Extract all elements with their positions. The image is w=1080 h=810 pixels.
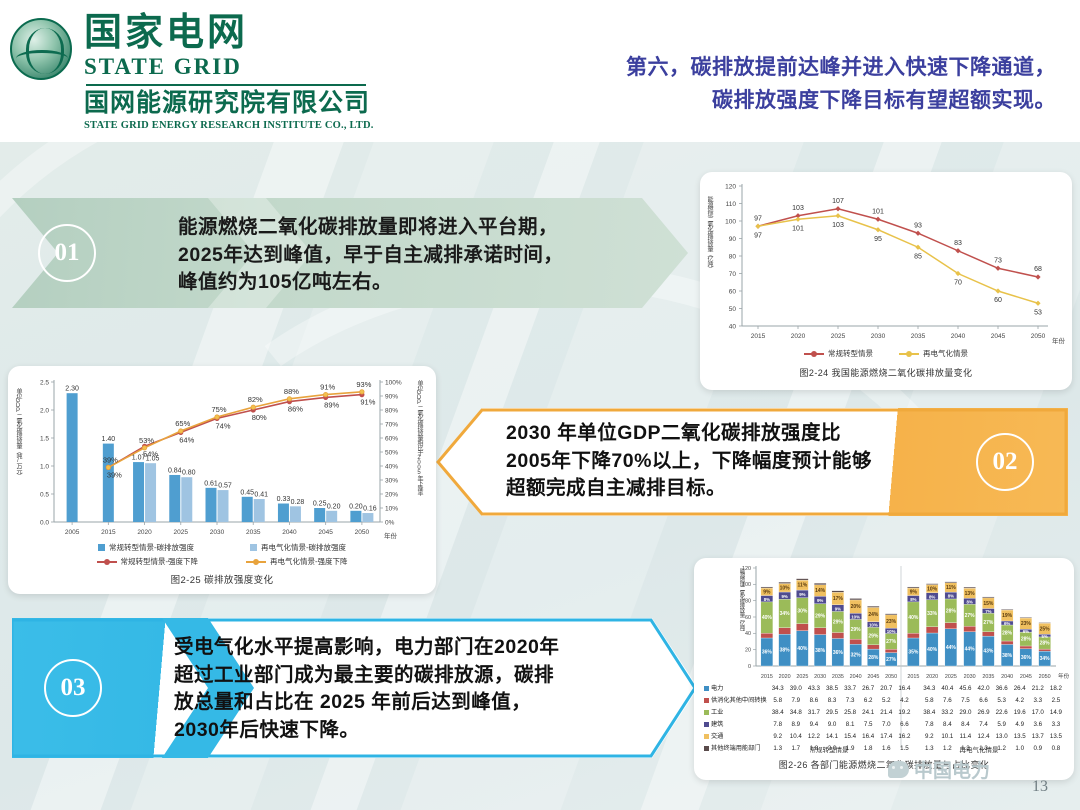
table-row: 工业38.434.831.729.525.824.121.419.238.433… [702, 708, 1064, 718]
table-cell: 45.6 [957, 684, 973, 694]
callout-02-text: 2030 年单位GDP二氧化碳排放强度比 2005年下降70%以上，下降幅度预计… [506, 420, 911, 503]
fig2-25-legend-row-2: 常规转型情景-强度下降 再电气化情景-强度下降 [8, 556, 436, 567]
svg-text:28%: 28% [868, 655, 879, 661]
svg-text:1.0: 1.0 [40, 463, 49, 470]
table-cell: 33.7 [842, 684, 858, 694]
svg-text:0.0: 0.0 [40, 519, 49, 526]
svg-text:8%: 8% [929, 594, 935, 599]
svg-text:2050: 2050 [1039, 674, 1051, 680]
svg-text:90%: 90% [385, 393, 398, 400]
table-cell: 13.5 [1012, 732, 1028, 742]
brand-text-block: 国家电网 STATE GRID 国网能源研究院有限公司 STATE GRID E… [84, 14, 374, 131]
svg-text:27%: 27% [965, 613, 976, 619]
svg-text:40%: 40% [908, 615, 919, 621]
fig2-26-caption: 图2-26 各部门能源燃烧二氧化碳排放量与占比变化 [694, 758, 1074, 771]
svg-text:34%: 34% [1040, 656, 1051, 662]
svg-text:8%: 8% [764, 597, 770, 602]
svg-text:2020: 2020 [137, 529, 152, 536]
svg-text:36%: 36% [1021, 655, 1032, 661]
svg-text:0.61: 0.61 [204, 480, 218, 487]
svg-text:0%: 0% [385, 519, 395, 526]
svg-text:28%: 28% [946, 608, 957, 614]
svg-text:24%: 24% [868, 612, 879, 618]
institute-name-en: STATE GRID ENERGY RESEARCH INSTITUTE CO.… [84, 120, 374, 131]
svg-text:44%: 44% [946, 645, 957, 651]
fig2-25-ylabel-right: 单位GDP二氧化碳排放量相比于2005年下降率 [416, 380, 422, 530]
brand-name-cn: 国家电网 [84, 14, 374, 54]
fig2-25-caption: 图2-25 碳排放强度变化 [8, 572, 436, 586]
svg-text:32%: 32% [851, 653, 862, 659]
legend-item: 常规转型情景-碳排放强度 [98, 542, 194, 553]
svg-text:40%: 40% [797, 646, 808, 652]
svg-text:2050: 2050 [355, 529, 370, 536]
svg-text:14%: 14% [815, 588, 826, 594]
svg-text:2050: 2050 [1031, 333, 1046, 340]
svg-text:38%: 38% [1002, 653, 1013, 659]
svg-text:27%: 27% [886, 657, 897, 663]
table-cell: 13.7 [1030, 732, 1046, 742]
table-cell: 7.5 [860, 720, 876, 730]
svg-text:10%: 10% [385, 505, 398, 512]
table-cell: 12.2 [806, 732, 822, 742]
table-cell: 24.1 [860, 708, 876, 718]
table-cell: 19.2 [896, 708, 912, 718]
legend-label: 常规转型情景-强度下降 [121, 556, 199, 567]
svg-text:50%: 50% [385, 449, 398, 456]
svg-text:0.20: 0.20 [327, 503, 341, 510]
table-cell: 38.5 [824, 684, 840, 694]
svg-text:2.5: 2.5 [40, 379, 49, 386]
svg-text:36%: 36% [833, 650, 844, 656]
svg-text:68: 68 [1034, 266, 1042, 273]
sector-swatch-icon [704, 746, 709, 751]
fig2-26-scenario-right: 再电气化情景 [904, 744, 1054, 754]
svg-text:28%: 28% [1040, 641, 1051, 647]
svg-text:8%: 8% [910, 597, 916, 602]
table-cell: 43.3 [806, 684, 822, 694]
svg-text:60: 60 [745, 615, 751, 621]
svg-text:29%: 29% [868, 634, 879, 640]
svg-text:20%: 20% [851, 604, 862, 610]
svg-text:60%: 60% [385, 435, 398, 442]
svg-text:6%: 6% [1023, 629, 1029, 634]
table-row: 交通9.210.412.214.115.416.417.416.29.210.1… [702, 732, 1064, 742]
callout-01-line-2: 2025年达到峰值，早于自主减排承诺时间， [178, 242, 678, 270]
callout-01-line-1: 能源燃烧二氧化碳排放量即将进入平台期， [178, 214, 678, 242]
svg-text:8%: 8% [948, 594, 954, 599]
table-row: 电力34.339.043.338.533.726.720.716.434.340… [702, 684, 1064, 694]
svg-text:13%: 13% [965, 591, 976, 597]
table-separator [914, 696, 919, 706]
table-cell: 3.3 [1030, 696, 1046, 706]
legend-item: 常规转型情景 [804, 348, 873, 359]
legend-label: 再电气化情景-强度下降 [270, 556, 348, 567]
svg-text:86%: 86% [288, 405, 303, 414]
page-title: 第六，碳排放提前达峰并进入快速下降通道， 碳排放强度下降目标有望超额实现。 [466, 52, 1056, 117]
svg-text:9%: 9% [763, 589, 771, 595]
svg-text:2005: 2005 [65, 529, 80, 536]
svg-text:75%: 75% [211, 405, 226, 414]
table-cell: 9.2 [921, 732, 937, 742]
svg-text:0.16: 0.16 [363, 506, 377, 513]
fig2-24-ylabel: 能源燃烧二氧化碳排放量（亿吨） [706, 196, 712, 324]
svg-text:91%: 91% [320, 383, 335, 392]
svg-text:0.28: 0.28 [291, 499, 305, 506]
svg-text:2040: 2040 [1001, 674, 1013, 680]
table-cell: 26.9 [975, 708, 991, 718]
table-cell: 7.8 [921, 720, 937, 730]
state-grid-emblem-icon [10, 18, 72, 80]
svg-text:17%: 17% [833, 596, 844, 602]
svg-text:1.40: 1.40 [102, 436, 116, 443]
svg-text:93: 93 [914, 222, 922, 229]
svg-text:10%: 10% [780, 585, 791, 591]
svg-text:44%: 44% [965, 646, 976, 652]
svg-text:43%: 43% [983, 649, 994, 655]
svg-text:88%: 88% [284, 387, 299, 396]
legend-item: 再电气化情景-强度下降 [246, 556, 348, 567]
svg-text:39%: 39% [107, 470, 122, 479]
svg-text:23%: 23% [1021, 621, 1032, 627]
table-cell: 39.0 [788, 684, 804, 694]
svg-text:93%: 93% [356, 380, 371, 389]
table-cell: 5.8 [770, 696, 786, 706]
table-cell: 17.0 [1030, 708, 1046, 718]
table-cell: 34.3 [921, 684, 937, 694]
table-separator [914, 708, 919, 718]
table-cell: 34.8 [788, 708, 804, 718]
svg-text:40%: 40% [385, 463, 398, 470]
svg-text:2035: 2035 [246, 529, 261, 536]
table-cell: 5.2 [878, 696, 894, 706]
sector-swatch-icon [704, 734, 709, 739]
table-cell: 16.4 [896, 684, 912, 694]
legend-item: 再电气化情景-碳排放强度 [250, 542, 346, 553]
svg-text:7%: 7% [985, 609, 991, 614]
svg-text:0.33: 0.33 [277, 496, 291, 503]
table-cell: 38.4 [770, 708, 786, 718]
svg-text:23%: 23% [886, 619, 897, 625]
svg-text:34%: 34% [780, 611, 791, 617]
table-cell: 14.1 [824, 732, 840, 742]
svg-text:70: 70 [954, 280, 962, 287]
callout-03[interactable]: 03 受电气化水平提高影响，电力部门在2020年 超过工业部门成为最主要的碳排放… [12, 618, 698, 758]
svg-text:38%: 38% [780, 648, 791, 654]
table-cell: 6.2 [860, 696, 876, 706]
svg-text:91%: 91% [360, 398, 375, 407]
svg-text:20%: 20% [385, 491, 398, 498]
svg-text:10%: 10% [869, 623, 878, 628]
table-cell: 5.9 [994, 720, 1010, 730]
svg-text:85: 85 [914, 253, 922, 260]
table-cell: 8.4 [957, 720, 973, 730]
brand-divider [86, 84, 366, 86]
legend-label: 常规转型情景 [828, 348, 873, 359]
table-row: 供消化其他中间转换5.87.98.68.37.36.25.24.25.87.67… [702, 696, 1064, 706]
table-cell: 7.6 [939, 696, 955, 706]
callout-01-line-3: 峰值约为105亿吨左右。 [178, 269, 678, 297]
svg-text:97: 97 [754, 232, 762, 239]
chart-card-fig2-25: 0.00.51.01.52.02.5 0%10%20%30%40%50%60%7… [8, 366, 436, 594]
svg-text:20: 20 [745, 648, 751, 654]
table-cell: 3.6 [1030, 720, 1046, 730]
svg-text:60: 60 [994, 297, 1002, 304]
sector-label: 建筑 [702, 720, 768, 730]
legend-swatch-line-icon [899, 353, 919, 355]
legend-item: 再电气化情景 [899, 348, 968, 359]
svg-text:2015: 2015 [101, 529, 116, 536]
svg-text:35%: 35% [908, 650, 919, 656]
svg-text:0.41: 0.41 [254, 492, 268, 499]
wechat-icon [888, 761, 909, 778]
svg-text:2025: 2025 [831, 333, 846, 340]
svg-text:2030: 2030 [210, 529, 225, 536]
table-cell: 6.6 [896, 720, 912, 730]
legend-label: 再电气化情景-碳排放强度 [261, 542, 346, 553]
svg-text:120: 120 [725, 183, 736, 190]
legend-item: 常规转型情景-强度下降 [97, 556, 199, 567]
svg-text:0: 0 [748, 664, 751, 670]
svg-text:30%: 30% [797, 608, 808, 614]
table-cell: 9.2 [770, 732, 786, 742]
svg-text:2040: 2040 [282, 529, 297, 536]
legend-swatch-line-icon [804, 353, 824, 355]
callout-02-line-1: 2030 年单位GDP二氧化碳排放强度比 [506, 420, 911, 448]
table-cell: 34.3 [770, 684, 786, 694]
table-cell: 7.8 [770, 720, 786, 730]
svg-text:2045: 2045 [318, 529, 333, 536]
svg-text:2020: 2020 [926, 674, 938, 680]
legend-swatch-box-icon [98, 544, 105, 551]
table-cell: 17.4 [878, 732, 894, 742]
table-cell: 12.4 [975, 732, 991, 742]
svg-text:11%: 11% [946, 585, 956, 591]
svg-text:28%: 28% [1021, 637, 1032, 643]
callout-03-line-4: 2030年后快速下降。 [174, 717, 686, 745]
watermark: 中国电力 [888, 756, 990, 783]
svg-text:5%: 5% [1041, 634, 1047, 639]
svg-text:2040: 2040 [951, 333, 966, 340]
table-cell: 38.4 [921, 708, 937, 718]
svg-text:64%: 64% [179, 435, 194, 444]
table-cell: 11.4 [957, 732, 973, 742]
svg-text:50: 50 [729, 306, 737, 313]
fig2-24-caption: 图2-24 我国能源燃烧二氧化碳排放量变化 [700, 366, 1072, 379]
callout-03-line-1: 受电气化水平提高影响，电力部门在2020年 [174, 634, 686, 662]
sector-label: 供消化其他中间转换 [702, 696, 768, 706]
svg-text:8%: 8% [966, 600, 972, 605]
svg-text:80%: 80% [252, 413, 267, 422]
slide-canvas: 国家电网 STATE GRID 国网能源研究院有限公司 STATE GRID E… [0, 0, 1080, 810]
table-cell: 8.4 [939, 720, 955, 730]
svg-text:110: 110 [726, 201, 737, 208]
svg-text:2020: 2020 [791, 333, 806, 340]
table-row: 建筑7.88.99.49.08.17.57.06.67.88.48.47.45.… [702, 720, 1064, 730]
table-cell: 21.2 [1030, 684, 1046, 694]
sector-swatch-icon [704, 710, 709, 715]
svg-text:101: 101 [792, 225, 804, 232]
table-cell: 5.8 [921, 696, 937, 706]
table-cell: 13.5 [1048, 732, 1064, 742]
table-cell: 8.9 [788, 720, 804, 730]
svg-text:33%: 33% [927, 611, 938, 617]
callout-01[interactable]: 01 能源燃烧二氧化碳排放量即将进入平台期， 2025年达到峰值，早于自主减排承… [12, 198, 688, 308]
svg-text:2045: 2045 [991, 333, 1006, 340]
callout-03-text: 受电气化水平提高影响，电力部门在2020年 超过工业部门成为最主要的碳排放源，碳… [174, 634, 686, 745]
svg-text:100: 100 [725, 218, 736, 225]
chart-card-fig2-26: 020406080100120 36%40%8%9%38%34%9%10%40%… [694, 558, 1074, 780]
svg-text:101: 101 [872, 208, 884, 215]
svg-text:10%: 10% [887, 629, 896, 634]
svg-text:0.45: 0.45 [240, 489, 254, 496]
svg-text:2025: 2025 [174, 529, 189, 536]
svg-text:2015: 2015 [761, 674, 773, 680]
table-separator [914, 684, 919, 694]
svg-text:6%: 6% [1004, 621, 1010, 626]
svg-text:19%: 19% [1002, 613, 1013, 619]
table-separator [914, 732, 919, 742]
svg-text:2.0: 2.0 [40, 407, 49, 414]
svg-text:9%: 9% [910, 589, 918, 595]
svg-text:2035: 2035 [911, 333, 926, 340]
table-cell: 42.0 [975, 684, 991, 694]
table-cell: 33.2 [939, 708, 955, 718]
chart-card-fig2-24: 405060708090100110120 201520202025203020… [700, 172, 1072, 390]
svg-text:2015: 2015 [907, 674, 919, 680]
svg-text:0.25: 0.25 [313, 501, 327, 508]
table-separator [914, 720, 919, 730]
svg-text:40: 40 [729, 323, 737, 330]
page-title-line-2: 碳排放强度下降目标有望超额实现。 [466, 85, 1056, 118]
page-number: 13 [1032, 778, 1048, 796]
callout-03-badge: 03 [44, 659, 102, 717]
svg-text:38%: 38% [815, 648, 826, 654]
svg-text:10%: 10% [851, 615, 860, 620]
table-cell: 9.0 [824, 720, 840, 730]
svg-text:70%: 70% [385, 421, 398, 428]
table-cell: 8.1 [842, 720, 858, 730]
table-cell: 7.0 [878, 720, 894, 730]
svg-text:74%: 74% [215, 421, 230, 430]
svg-text:65%: 65% [175, 419, 190, 428]
svg-text:80: 80 [745, 599, 751, 605]
svg-text:53: 53 [1034, 309, 1042, 316]
fig2-25-legend-row-1: 常规转型情景-碳排放强度 再电气化情景-碳排放强度 [8, 542, 436, 553]
svg-text:29%: 29% [851, 627, 862, 633]
slide-header: 国家电网 STATE GRID 国网能源研究院有限公司 STATE GRID E… [0, 0, 1080, 142]
brand-logo: 国家电网 STATE GRID 国网能源研究院有限公司 STATE GRID E… [10, 14, 374, 131]
svg-text:73: 73 [994, 257, 1002, 264]
svg-text:103: 103 [832, 222, 844, 229]
table-cell: 20.7 [878, 684, 894, 694]
page-title-line-1: 第六，碳排放提前达峰并进入快速下降通道， [466, 52, 1056, 85]
svg-text:83: 83 [954, 240, 962, 247]
table-cell: 29.5 [824, 708, 840, 718]
table-cell: 36.6 [994, 684, 1010, 694]
svg-text:27%: 27% [983, 620, 994, 626]
fig2-25-xlabel: 年份 [384, 531, 398, 540]
table-cell: 6.6 [975, 696, 991, 706]
svg-text:39%: 39% [103, 455, 118, 464]
svg-text:80: 80 [729, 253, 737, 260]
svg-text:36%: 36% [762, 650, 773, 656]
svg-text:2030: 2030 [871, 333, 886, 340]
fig2-26-scenario-left: 常规转型情景 [756, 744, 902, 754]
svg-text:100%: 100% [385, 379, 402, 386]
svg-text:107: 107 [832, 198, 844, 205]
callout-01-badge: 01 [38, 224, 96, 282]
table-cell: 13.0 [994, 732, 1010, 742]
table-cell: 8.3 [824, 696, 840, 706]
svg-text:2030: 2030 [964, 674, 976, 680]
sector-swatch-icon [704, 686, 709, 691]
legend-swatch-line-icon [97, 561, 117, 563]
svg-text:2050: 2050 [885, 674, 897, 680]
svg-text:60: 60 [729, 288, 737, 295]
sector-label: 工业 [702, 708, 768, 718]
svg-text:90: 90 [729, 236, 737, 243]
table-cell: 21.4 [878, 708, 894, 718]
sector-swatch-icon [704, 698, 709, 703]
brand-name-en: STATE GRID [84, 54, 374, 79]
svg-text:27%: 27% [886, 639, 897, 645]
svg-text:2025: 2025 [945, 674, 957, 680]
fig2-24-legend: 常规转型情景 再电气化情景 [700, 348, 1072, 359]
svg-text:40%: 40% [762, 615, 773, 621]
svg-text:9%: 9% [799, 592, 805, 597]
table-cell: 19.6 [1012, 708, 1028, 718]
table-cell: 18.2 [1048, 684, 1064, 694]
table-cell: 16.4 [860, 732, 876, 742]
svg-text:40: 40 [745, 631, 751, 637]
table-cell: 8.6 [806, 696, 822, 706]
svg-text:0.20: 0.20 [349, 503, 363, 510]
callout-02-line-3: 超额完成自主减排目标。 [506, 475, 911, 503]
table-cell: 4.2 [896, 696, 912, 706]
callout-02-line-2: 2005年下降70%以上，下降幅度预计能够 [506, 448, 911, 476]
svg-text:9%: 9% [835, 606, 841, 611]
fig2-26-xlabel: 年份 [1058, 672, 1070, 680]
table-cell: 4.2 [1012, 696, 1028, 706]
svg-text:10%: 10% [927, 586, 938, 592]
svg-text:2035: 2035 [832, 674, 844, 680]
legend-swatch-box-icon [250, 544, 257, 551]
table-cell: 4.9 [1012, 720, 1028, 730]
table-cell: 10.4 [788, 732, 804, 742]
svg-text:40%: 40% [927, 647, 938, 653]
sector-label: 电力 [702, 684, 768, 694]
table-cell: 2.5 [1048, 696, 1064, 706]
fig2-24-xlabel: 年份 [1052, 336, 1066, 345]
callout-02[interactable]: 02 2030 年单位GDP二氧化碳排放强度比 2005年下降70%以上，下降幅… [436, 408, 1068, 516]
callout-03-line-2: 超过工业部门成为最主要的碳排放源，碳排 [174, 662, 686, 690]
svg-text:53%: 53% [139, 436, 154, 445]
svg-text:0.5: 0.5 [40, 491, 49, 498]
table-cell: 7.3 [842, 696, 858, 706]
svg-text:2015: 2015 [751, 333, 766, 340]
watermark-label: 中国电力 [914, 756, 990, 783]
svg-text:0.84: 0.84 [168, 467, 182, 474]
svg-text:9%: 9% [817, 598, 823, 603]
svg-text:2045: 2045 [1020, 674, 1032, 680]
callout-03-line-3: 放总量和占比在 2025 年前后达到峰值， [174, 689, 686, 717]
table-cell: 7.4 [975, 720, 991, 730]
table-cell: 15.4 [842, 732, 858, 742]
callout-02-badge: 02 [976, 433, 1034, 491]
callout-01-text: 能源燃烧二氧化碳排放量即将进入平台期， 2025年达到峰值，早于自主减排承诺时间… [178, 214, 678, 297]
table-cell: 9.4 [806, 720, 822, 730]
table-cell: 5.3 [994, 696, 1010, 706]
